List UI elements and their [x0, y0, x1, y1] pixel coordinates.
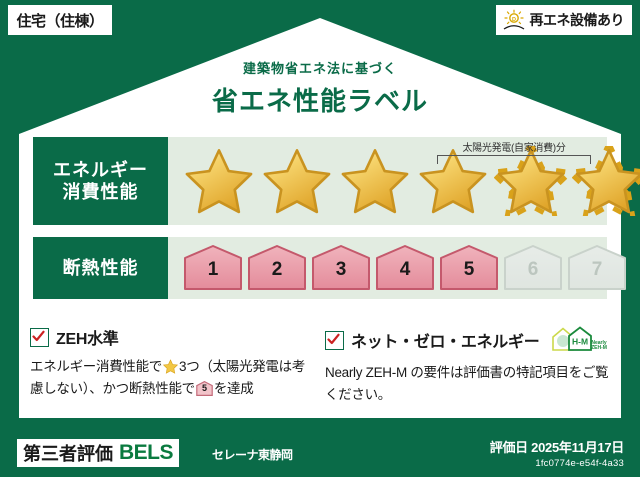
insulation-row: 断熱性能 1234567 — [33, 237, 607, 299]
insulation-grade-3: 3 — [310, 244, 372, 292]
criteria-zeh: ZEH水準 エネルギー消費性能で3つ（太陽光発電は考慮しない）、かつ断熱性能で5… — [30, 325, 315, 400]
insulation-grade-1: 1 — [182, 244, 244, 292]
svg-text:H-M: H-M — [572, 337, 588, 347]
criteria-zeh-body: エネルギー消費性能で3つ（太陽光発電は考慮しない）、かつ断熱性能で5を達成 — [30, 356, 315, 400]
bels-brand-label: BELS — [119, 441, 173, 465]
energy-row-body: 太陽光発電(自家消費)分 — [168, 137, 607, 225]
energy-row-label: エネルギー 消費性能 — [33, 137, 168, 225]
energy-performance-label: 住宅（住棟） D 再エネ設備あり 建築物省エネ法に基づく 省エネ性能ラベル エネ — [0, 0, 640, 477]
insulation-label: 断熱性能 — [63, 257, 139, 280]
insulation-grade-5: 5 — [438, 244, 500, 292]
insulation-grade-number: 4 — [374, 259, 436, 281]
svg-text:ZEH-M: ZEH-M — [591, 345, 607, 351]
criteria-net-zero-header: ネット・ゼロ・エネルギー H-M Nearly ZEH-M — [325, 325, 610, 355]
housing-type-tag: 住宅（住棟） — [8, 5, 112, 35]
solar-annotation-caption: 太陽光発電(自家消費)分 — [431, 139, 597, 154]
solar-sun-icon: D — [502, 9, 526, 31]
insulation-grade-number: 3 — [310, 259, 372, 281]
criteria-zeh-title: ZEH水準 — [56, 325, 119, 349]
title-block: 建築物省エネ法に基づく 省エネ性能ラベル — [0, 58, 640, 118]
star-icon — [260, 146, 334, 216]
insulation-grade-7: 7 — [566, 244, 628, 292]
insulation-grade-number: 6 — [502, 259, 564, 281]
checkbox-checked-icon — [30, 328, 49, 347]
criteria-net-zero-body: Nearly ZEH-M の要件は評価書の特記項目をご覧ください。 — [325, 362, 610, 406]
housing-type-label: 住宅（住棟） — [16, 10, 103, 31]
renewable-equipment-badge: D 再エネ設備あり — [496, 5, 633, 35]
star-icon — [338, 146, 412, 216]
criteria-zeh-text-post: を達成 — [214, 381, 254, 396]
criteria-net-zero-title: ネット・ゼロ・エネルギー — [351, 328, 539, 352]
nearly-zeh-m-logo-icon: H-M Nearly ZEH-M — [549, 325, 607, 355]
insulation-grade-number: 1 — [182, 259, 244, 281]
criteria-zeh-text-pre: エネルギー消費性能で — [30, 359, 162, 374]
inline-star-icon — [163, 359, 178, 374]
insulation-grade-number: 7 — [566, 259, 628, 281]
third-party-label: 第三者評価 — [23, 440, 113, 466]
insulation-grade-2: 2 — [246, 244, 308, 292]
svg-text:D: D — [512, 17, 516, 23]
solar-bracket — [437, 155, 591, 164]
insulation-grade-4: 4 — [374, 244, 436, 292]
star-icon — [182, 146, 256, 216]
inline-grade-number: 5 — [196, 381, 213, 395]
inline-grade-house-icon: 5 — [196, 381, 213, 395]
evaluation-uid: 1fc0774e-e54f-4a33 — [490, 458, 624, 469]
checkbox-checked-icon-2 — [325, 331, 344, 350]
insulation-grade-6: 6 — [502, 244, 564, 292]
project-name: セレーナ東静岡 — [212, 446, 293, 463]
footer-meta: 評価日 2025年11月17日 1fc0774e-e54f-4a33 — [490, 437, 624, 469]
renewable-badge-label: 再エネ設備あり — [530, 10, 625, 30]
energy-consumption-row: エネルギー 消費性能 太陽光発電(自家消費)分 — [33, 137, 607, 225]
title-subtitle: 建築物省エネ法に基づく — [0, 58, 640, 77]
criteria-zeh-header: ZEH水準 — [30, 325, 315, 349]
page-title: 省エネ性能ラベル — [0, 81, 640, 118]
energy-label-line2: 消費性能 — [63, 181, 139, 204]
insulation-grade-number: 5 — [438, 259, 500, 281]
energy-label-line1: エネルギー — [53, 159, 148, 182]
insulation-grade-number: 2 — [246, 259, 308, 281]
bels-badge: 第三者評価 BELS — [17, 439, 179, 467]
insulation-row-body: 1234567 — [168, 237, 607, 299]
insulation-row-label: 断熱性能 — [33, 237, 168, 299]
insulation-grade-group: 1234567 — [168, 237, 607, 299]
evaluation-date: 評価日 2025年11月17日 — [490, 437, 624, 456]
solar-annotation: 太陽光発電(自家消費)分 — [431, 139, 597, 164]
criteria-net-zero: ネット・ゼロ・エネルギー H-M Nearly ZEH-M Nearly ZEH… — [325, 325, 610, 406]
